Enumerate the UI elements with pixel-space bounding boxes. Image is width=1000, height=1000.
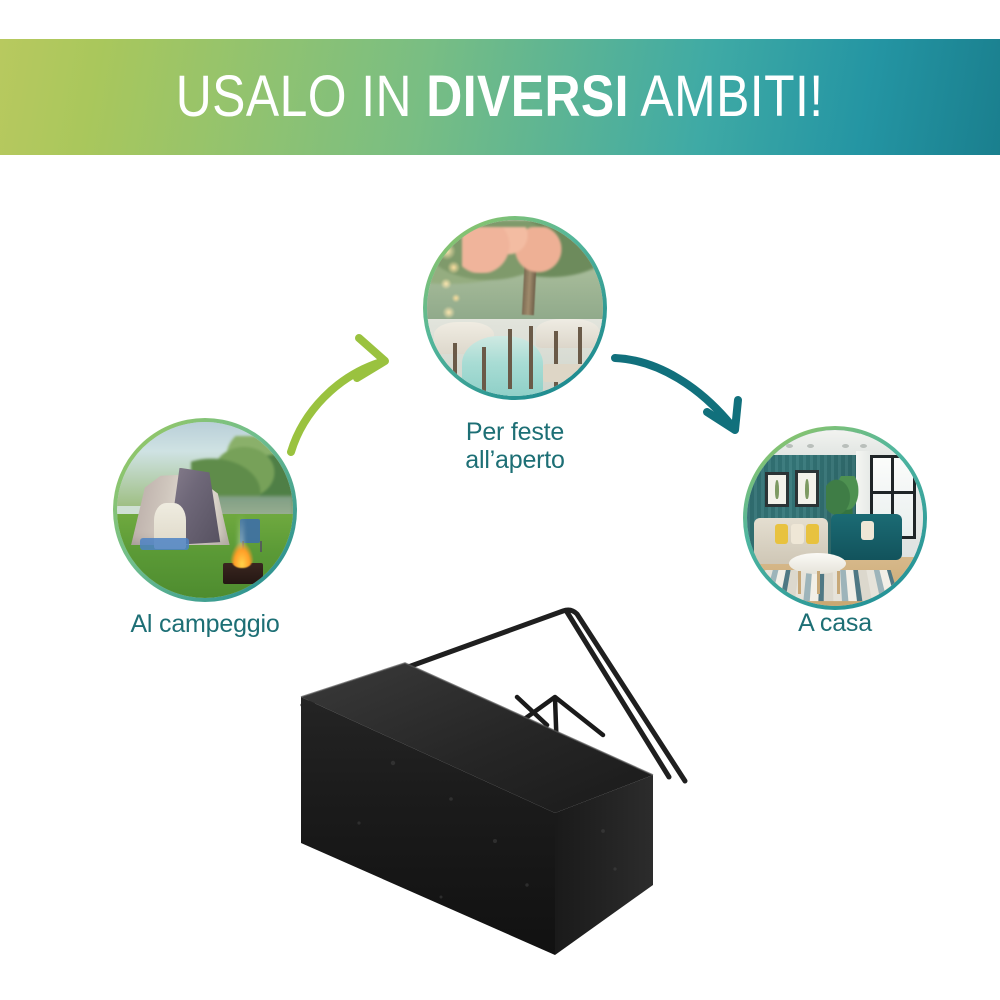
party-chair bbox=[482, 347, 486, 393]
title-emphasis: DIVERSI bbox=[427, 64, 630, 129]
infographic-page: USALO IN DIVERSI AMBITI! bbox=[0, 0, 1000, 1000]
wall-art-leaf bbox=[775, 480, 779, 499]
campfire-flame bbox=[230, 542, 255, 568]
title-part-1: USALO IN bbox=[176, 64, 427, 129]
camping-circle-ring bbox=[113, 418, 297, 602]
title-part-2: AMBITI! bbox=[629, 64, 824, 129]
wall-art-leaf bbox=[805, 479, 809, 499]
wall-art-frame bbox=[795, 470, 820, 507]
ceiling-spotlight bbox=[860, 444, 867, 448]
party-chair bbox=[529, 326, 533, 389]
party-chair bbox=[508, 329, 512, 389]
party-lanterns bbox=[462, 227, 568, 273]
coffee-table-leg bbox=[837, 571, 840, 594]
camping-tent-photo bbox=[117, 422, 293, 598]
party-bench bbox=[543, 364, 589, 382]
cushion-yellow bbox=[806, 524, 819, 543]
header-banner: USALO IN DIVERSI AMBITI! bbox=[0, 39, 1000, 155]
cushion-cream bbox=[791, 524, 804, 543]
portable-fire-pit bbox=[255, 585, 795, 980]
ceiling-spotlight bbox=[786, 444, 793, 448]
page-title: USALO IN DIVERSI AMBITI! bbox=[176, 68, 824, 126]
wall-art-frame bbox=[765, 472, 790, 507]
party-table-far-right bbox=[536, 319, 599, 349]
ceiling-spotlight bbox=[842, 444, 849, 448]
coffee-table-leg bbox=[817, 571, 820, 594]
ceiling-spotlight bbox=[807, 444, 814, 448]
coffee-table-leg bbox=[798, 571, 801, 594]
cushion-yellow bbox=[775, 524, 788, 543]
cushion-cream bbox=[861, 521, 874, 540]
arrow-camping-to-party-icon bbox=[285, 330, 455, 460]
arrow-party-to-home-icon bbox=[605, 330, 780, 460]
tent-mat bbox=[140, 538, 189, 550]
home-sofa-teal bbox=[831, 514, 901, 560]
